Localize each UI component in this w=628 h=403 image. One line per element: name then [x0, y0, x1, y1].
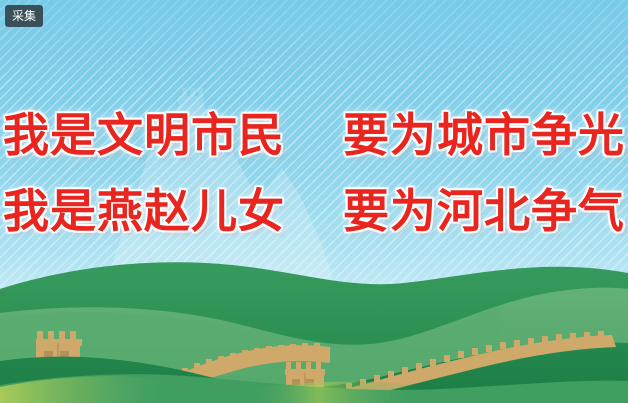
hills-landscape	[0, 243, 628, 403]
poster-canvas: 我是文明市民 要为城市争光 我是燕赵儿女 要为河北争气 采集	[0, 0, 628, 403]
slogan-line-2-right: 要为河北争气	[343, 184, 625, 238]
slogan-line-2-left: 我是燕赵儿女	[3, 184, 285, 238]
slogan-line-1-right: 要为城市争光	[343, 108, 625, 162]
slogan-line-1-left: 我是文明市民	[3, 108, 285, 162]
slogan-line-1: 我是文明市民 要为城市争光	[0, 99, 628, 165]
capture-button[interactable]: 采集	[5, 5, 43, 27]
slogan-line-2: 我是燕赵儿女 要为河北争气	[0, 175, 628, 241]
